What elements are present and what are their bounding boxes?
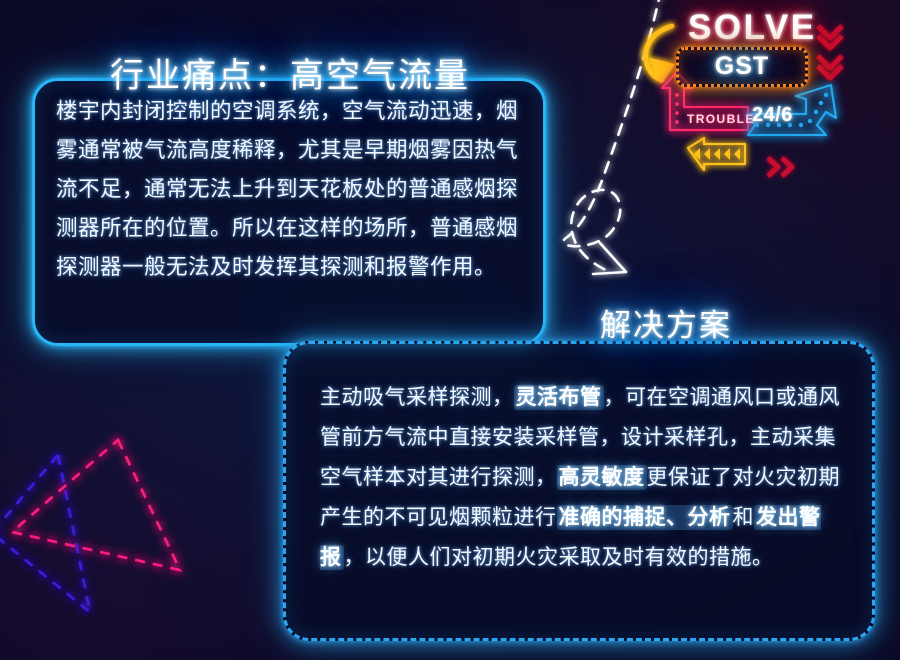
solution-highlight: 灵活布管 (514, 385, 604, 410)
pain-point-title: 行业痛点：高空气流量 (110, 48, 470, 97)
dashed-curve-arrow-icon (563, 0, 661, 274)
curved-yellow-arrow-icon (646, 26, 674, 82)
solution-highlight: 高灵敏度 (557, 465, 647, 490)
trouble-label: TROUBLE (687, 112, 755, 126)
poster-canvas: 行业痛点：高空气流量 楼宇内封闭控制的空调系统，空气流动迅速，烟雾通常被气流高度… (0, 0, 900, 660)
red-double-chevron-right-icon (768, 158, 792, 176)
red-double-chevron-down-icon (818, 26, 842, 78)
solution-text-run: ，以便人们对初期火灾采取及时有效的措施。 (344, 546, 774, 569)
service-hours-label: 24/6 (752, 104, 793, 127)
solution-text-run: 主动吸气采样探测， (320, 386, 514, 409)
solve-wordmark: SOLVE (688, 8, 817, 48)
solution-body: 主动吸气采样探测，灵活布管，可在空调通风口或通风管前方气流中直接安装采样管，设计… (320, 378, 844, 578)
solution-title: 解决方案 (600, 300, 732, 345)
gst-wordmark: GST (676, 52, 808, 81)
yellow-left-arrow-icon (688, 138, 745, 170)
solution-text-run: 和 (733, 506, 755, 529)
solution-highlight: 准确的捕捉、分析 (557, 505, 733, 530)
dashed-triangle-magenta-icon (12, 440, 180, 570)
pain-point-body: 楼宇内封闭控制的空调系统，空气流动迅速，烟雾通常被气流高度稀释，尤其是早期烟雾因… (56, 92, 526, 287)
dashed-triangle-violet-icon (0, 455, 90, 612)
